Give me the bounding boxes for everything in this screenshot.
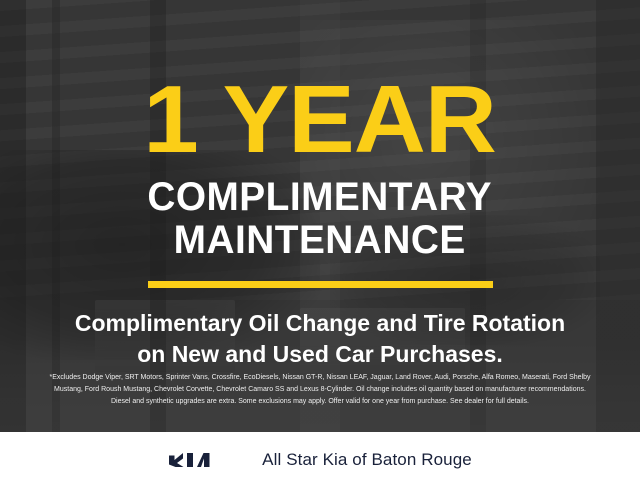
subheadline-complimentary-maintenance: COMPLIMENTARY MAINTENANCE <box>148 176 493 261</box>
disclaimer-line-1: *Excludes Dodge Viper, SRT Motors, Sprin… <box>14 372 626 384</box>
subheadline-line-2: MAINTENANCE <box>148 219 493 261</box>
yellow-divider-rule <box>148 281 493 288</box>
offer-line-2: on New and Used Car Purchases. <box>75 339 565 369</box>
headline-one-year: 1 YEAR <box>144 78 497 162</box>
banner-content: 1 YEAR COMPLIMENTARY MAINTENANCE Complim… <box>0 0 640 488</box>
dealer-name-label: All Star Kia of Baton Rouge <box>262 450 472 470</box>
disclaimer-line-2: Mustang, Ford Roush Mustang, Chevrolet C… <box>14 384 626 396</box>
subheadline-line-1: COMPLIMENTARY <box>148 176 493 218</box>
dealer-footer: All Star Kia of Baton Rouge <box>0 432 640 488</box>
offer-description: Complimentary Oil Change and Tire Rotati… <box>75 308 565 369</box>
disclaimer-line-3: Diesel and synthetic upgrades are extra.… <box>14 396 626 408</box>
promotional-banner: 1 YEAR COMPLIMENTARY MAINTENANCE Complim… <box>0 0 640 488</box>
disclaimer-text: *Excludes Dodge Viper, SRT Motors, Sprin… <box>0 372 640 408</box>
kia-logo-icon <box>168 450 240 470</box>
offer-line-1: Complimentary Oil Change and Tire Rotati… <box>75 308 565 338</box>
